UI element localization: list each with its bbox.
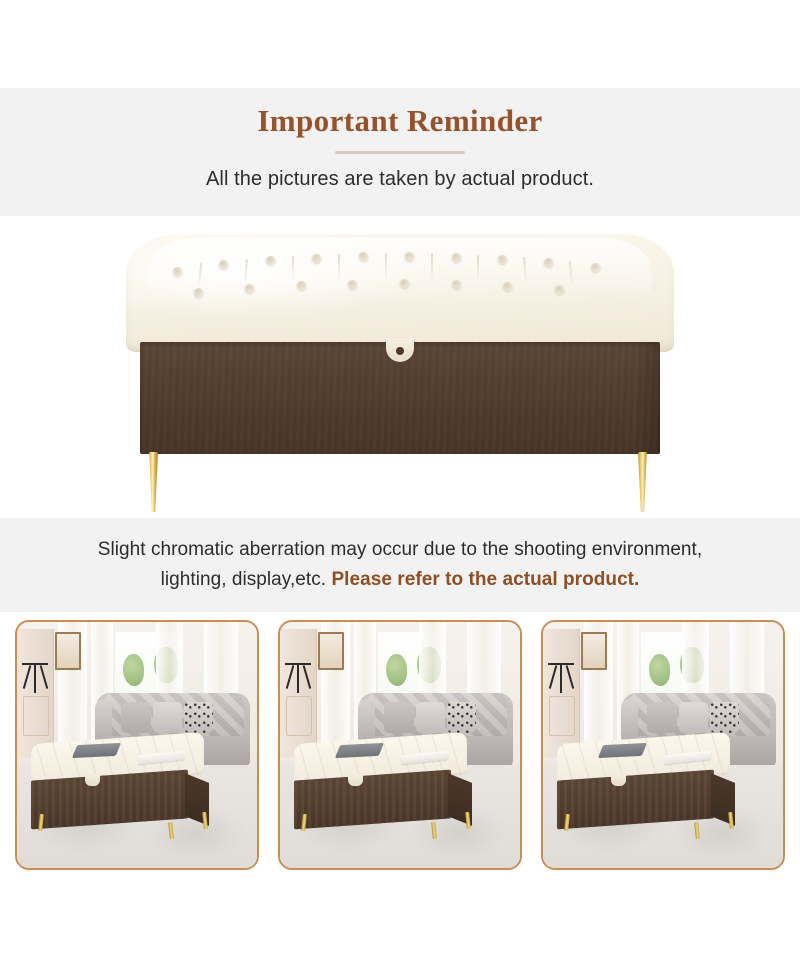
- cushion-pillow: [384, 702, 415, 733]
- storage-ottoman-bench: [31, 738, 228, 836]
- laptop: [598, 742, 647, 757]
- notice-line-2: lighting, display,etc. Please refer to t…: [161, 565, 640, 595]
- polka-dot-pillow: [184, 702, 213, 733]
- cushion-pillow: [647, 702, 678, 733]
- wall-art-frame: [55, 632, 81, 670]
- lid-pull-tab: [348, 774, 364, 786]
- room-scene: [280, 622, 520, 868]
- page-title: Important Reminder: [257, 104, 542, 138]
- reminder-header-band: Important Reminder All the pictures are …: [0, 88, 800, 216]
- laptop: [335, 742, 384, 757]
- foliage-icon: [649, 654, 671, 686]
- chromatic-aberration-notice: Slight chromatic aberration may occur du…: [0, 518, 800, 612]
- wall-art-frame: [318, 632, 344, 670]
- room-scene: [543, 622, 783, 868]
- polka-dot-pillow: [447, 702, 476, 733]
- tufting-buttons: [142, 240, 658, 318]
- foliage-icon: [123, 654, 145, 686]
- cushion-pillow: [121, 702, 152, 733]
- ottoman-leg-right: [638, 452, 648, 512]
- notice-line-2-emphasis: Please refer to the actual product.: [331, 569, 639, 590]
- wall-art-frame: [581, 632, 607, 670]
- thumbnail-strip: [0, 620, 800, 868]
- lid-pull-tab: [611, 774, 627, 786]
- hero-product-image: [0, 216, 800, 518]
- notice-line-1: Slight chromatic aberration may occur du…: [98, 535, 702, 565]
- thumbnail-living-room-scene-3[interactable]: [541, 620, 785, 870]
- room-scene: [17, 622, 257, 868]
- plant-stand: [285, 654, 311, 693]
- cushion-pillow: [416, 702, 445, 733]
- storage-ottoman-bench-illustration: [126, 234, 674, 502]
- cushion-pillow: [153, 702, 182, 733]
- plant-stand: [548, 654, 574, 693]
- tufted-cushion-top: [126, 234, 674, 352]
- top-white-spacer: [0, 0, 800, 88]
- foliage-icon: [386, 654, 408, 686]
- cushion-pillow: [679, 702, 708, 733]
- lid-pull-tab: [85, 774, 101, 786]
- page-subtitle: All the pictures are taken by actual pro…: [206, 167, 594, 191]
- ottoman-leg-left: [148, 452, 158, 512]
- thumbnail-living-room-scene-2[interactable]: [278, 620, 522, 870]
- thumbnail-living-room-scene-1[interactable]: [15, 620, 259, 870]
- storage-ottoman-bench: [557, 738, 754, 836]
- polka-dot-pillow: [710, 702, 739, 733]
- plant-stand: [22, 654, 48, 693]
- storage-ottoman-bench: [294, 738, 491, 836]
- notice-line-2-normal: lighting, display,etc.: [161, 569, 332, 590]
- laptop: [72, 742, 121, 757]
- title-divider: [335, 151, 465, 154]
